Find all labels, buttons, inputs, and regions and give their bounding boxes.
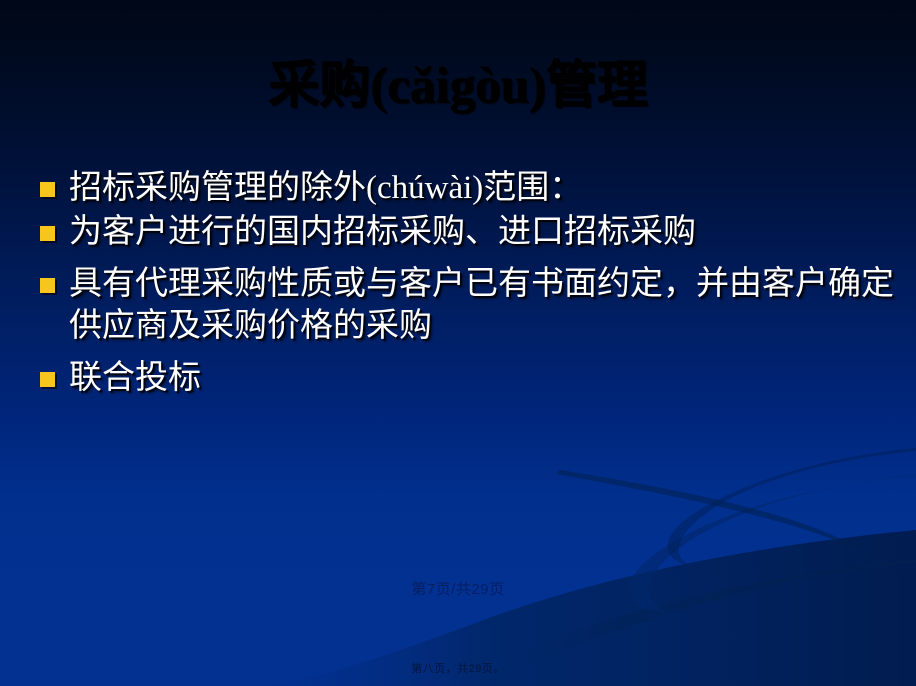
list-item: 为客户进行的国内招标采购、进口招标采购 bbox=[40, 212, 900, 254]
list-item-text: 为客户进行的国内招标采购、进口招标采购 bbox=[69, 212, 900, 254]
list-item: 招标采购管理的除外(chúwài)范围： bbox=[40, 168, 900, 210]
list-item: 联合投标 bbox=[40, 358, 900, 400]
square-bullet-icon bbox=[40, 372, 55, 387]
list-item-text: 联合投标 bbox=[69, 358, 900, 400]
list-item: 具有代理采购性质或与客户已有书面约定，并由客户确定供应商及采购价格的采购 bbox=[40, 264, 900, 348]
slide-body-content: 招标采购管理的除外(chúwài)范围： 为客户进行的国内招标采购、进口招标采购… bbox=[40, 168, 900, 406]
list-item-text: 招标采购管理的除外(chúwài)范围： bbox=[69, 168, 900, 210]
document-footer-page-number: 第八页，共29页。 bbox=[0, 660, 916, 676]
presentation-slide: 采购(cǎigòu)管理 招标采购管理的除外(chúwài)范围： 为客户进行的… bbox=[0, 0, 916, 686]
list-item-text: 具有代理采购性质或与客户已有书面约定，并由客户确定供应商及采购价格的采购 bbox=[69, 264, 900, 348]
square-bullet-icon bbox=[40, 226, 55, 241]
slide-page-number: 第7页/共29页 bbox=[0, 578, 916, 599]
slide-title-block: 采购(cǎigòu)管理 bbox=[0, 58, 916, 114]
square-bullet-icon bbox=[40, 278, 55, 293]
page-title: 采购(cǎigòu)管理 bbox=[268, 58, 648, 114]
square-bullet-icon bbox=[40, 182, 55, 197]
